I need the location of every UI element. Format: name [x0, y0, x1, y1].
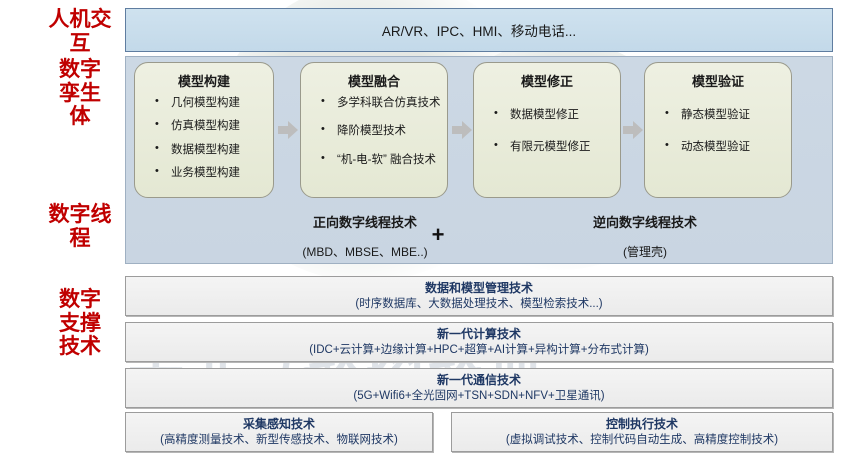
card-model-construction: 模型构建 几何模型构建 仿真模型构建 数据模型构建 业务模型构建: [134, 62, 274, 198]
left-rail: 人机交互 数字孪生体 数字线程 数字支撑技术: [0, 0, 120, 463]
hmi-band-label: AR/VR、IPC、HMI、移动电话...: [382, 20, 576, 40]
plus-sign: +: [425, 224, 451, 246]
rail-label-digital-twin-body: 数字孪生体: [58, 58, 102, 129]
support-box-subtitle: (IDC+云计算+边缘计算+HPC+超算+AI计算+异构计算+分布式计算): [309, 343, 649, 357]
support-box-subtitle: (高精度测量技术、新型传感技术、物联网技术): [160, 433, 398, 447]
support-box-control-execution: 控制执行技术 (虚拟调试技术、控制代码自动生成、高精度控制技术): [451, 412, 833, 452]
card-model-fusion: 模型融合 多学科联合仿真技术 降阶模型技术 “机-电-软” 融合技术: [300, 62, 448, 198]
support-box-acquisition-sensing: 采集感知技术 (高精度测量技术、新型传感技术、物联网技术): [125, 412, 433, 452]
flow-arrow-right-icon-2: [451, 119, 473, 141]
list-item: 多学科联合仿真技术: [321, 96, 437, 110]
flow-arrow-right-icon-1: [277, 119, 299, 141]
digital-thread-band: 正向数字线程技术 (MBD、MBSE、MBE..) + 逆向数字线程技术 (管理…: [125, 208, 833, 264]
rail-label-digital-thread: 数字线程: [44, 203, 116, 250]
support-box-next-gen-communication: 新一代通信技术 (5G+Wifi6+全光固网+TSN+SDN+NFV+卫星通讯): [125, 368, 833, 408]
support-box-title: 数据和模型管理技术: [425, 281, 533, 295]
support-box-data-and-model-management: 数据和模型管理技术 (时序数据库、大数据处理技术、模型检索技术...): [125, 276, 833, 316]
reverse-thread-title: 逆向数字线程技术: [535, 212, 755, 231]
support-box-title: 控制执行技术: [606, 417, 678, 431]
list-item: 几何模型构建: [155, 96, 263, 110]
card-model-validation: 模型验证 静态模型验证 动态模型验证: [644, 62, 792, 198]
card-model-correction: 模型修正 数据模型修正 有限元模型修正: [473, 62, 621, 198]
hmi-band: AR/VR、IPC、HMI、移动电话...: [125, 8, 833, 52]
list-item: 数据模型构建: [155, 143, 263, 157]
support-box-title: 采集感知技术: [243, 417, 315, 431]
list-item: 仿真模型构建: [155, 119, 263, 133]
card-item-list: 数据模型修正 有限元模型修正: [480, 108, 614, 155]
flow-arrow-right-icon-3: [622, 119, 644, 141]
card-title: 模型验证: [651, 71, 785, 90]
support-box-subtitle: (5G+Wifi6+全光固网+TSN+SDN+NFV+卫星通讯): [353, 389, 604, 403]
list-item: 数据模型修正: [494, 108, 610, 122]
support-box-title: 新一代计算技术: [437, 327, 521, 341]
rail-label-digital-support-technology: 数字支撑技术: [58, 288, 102, 359]
list-item: 动态模型验证: [665, 140, 781, 154]
support-box-subtitle: (虚拟调试技术、控制代码自动生成、高精度控制技术): [506, 433, 778, 447]
list-item: 业务模型构建: [155, 166, 263, 180]
list-item: 静态模型验证: [665, 108, 781, 122]
reverse-thread-group: 逆向数字线程技术 (管理壳): [535, 212, 755, 260]
card-title: 模型构建: [141, 71, 267, 90]
card-item-list: 多学科联合仿真技术 降阶模型技术 “机-电-软” 融合技术: [307, 96, 441, 167]
card-item-list: 几何模型构建 仿真模型构建 数据模型构建 业务模型构建: [141, 96, 267, 181]
list-item: 有限元模型修正: [494, 140, 610, 154]
rail-label-human-machine-interaction: 人机交互: [44, 8, 116, 55]
diagram-canvas: 工业互联网联盟 Alliance of Industrial Internet …: [0, 0, 841, 463]
list-item: 降阶模型技术: [321, 124, 437, 138]
card-item-list: 静态模型验证 动态模型验证: [651, 108, 785, 155]
card-title: 模型修正: [480, 71, 614, 90]
support-box-next-gen-computing: 新一代计算技术 (IDC+云计算+边缘计算+HPC+超算+AI计算+异构计算+分…: [125, 322, 833, 362]
support-box-subtitle: (时序数据库、大数据处理技术、模型检索技术...): [355, 297, 602, 311]
reverse-thread-subtitle: (管理壳): [535, 243, 755, 260]
card-title: 模型融合: [307, 71, 441, 90]
list-item: “机-电-软” 融合技术: [321, 153, 437, 167]
support-box-title: 新一代通信技术: [437, 373, 521, 387]
